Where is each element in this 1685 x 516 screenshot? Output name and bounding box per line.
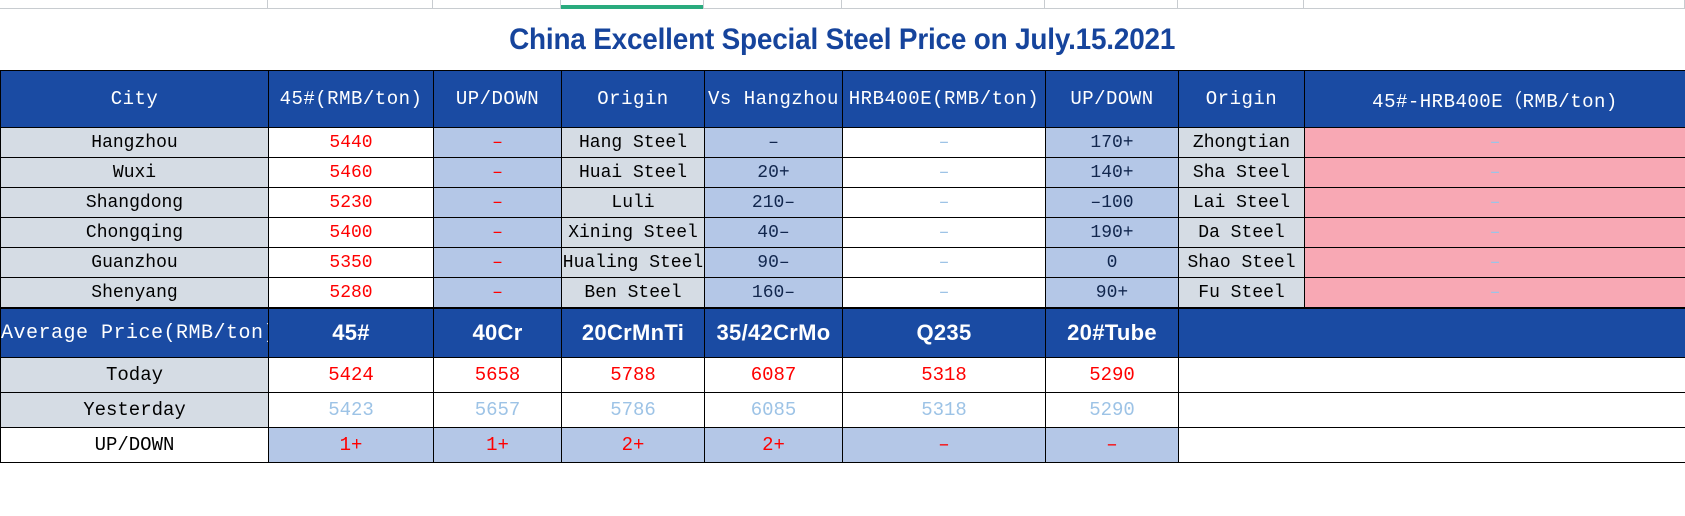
- cell-vs-hangzhou: –: [705, 128, 843, 158]
- cell-origin-hrb: Shao Steel: [1179, 248, 1305, 278]
- sheet-column-e[interactable]: [704, 0, 842, 8]
- cell-updown-45: –: [434, 158, 562, 188]
- cell-difference: –: [1305, 158, 1685, 188]
- yesterday-20crmnti: 5786: [562, 393, 705, 428]
- cell-updown-hrb: 140+: [1046, 158, 1179, 188]
- page-title: China Excellent Special Steel Price on J…: [509, 23, 1175, 57]
- cell-hrb400e: –: [843, 128, 1046, 158]
- screenshot-root: China Excellent Special Steel Price on J…: [0, 0, 1685, 516]
- table-row[interactable]: Guanzhou 5350 – Hualing Steel 90– – 0 Sh…: [1, 248, 1685, 278]
- cell-origin-hrb: Lai Steel: [1179, 188, 1305, 218]
- cell-updown-45: –: [434, 188, 562, 218]
- updown-20crmnti: 2+: [562, 428, 705, 463]
- cell-city: Guanzhou: [1, 248, 269, 278]
- report-title-bar: China Excellent Special Steel Price on J…: [0, 9, 1685, 70]
- header-vs-hangzhou: Vs Hangzhou: [705, 71, 843, 128]
- cell-updown-hrb: 170+: [1046, 128, 1179, 158]
- cell-city: Chongqing: [1, 218, 269, 248]
- spreadsheet-column-strip[interactable]: [0, 0, 1685, 9]
- table-row[interactable]: Hangzhou 5440 – Hang Steel – – 170+ Zhon…: [1, 128, 1685, 158]
- average-header-spacer: [1179, 309, 1685, 358]
- cell-origin-hrb: Da Steel: [1179, 218, 1305, 248]
- sheet-column-a[interactable]: [0, 0, 268, 8]
- cell-difference: –: [1305, 278, 1685, 308]
- header-price-45: 45#(RMB/ton): [269, 71, 434, 128]
- sheet-column-c[interactable]: [433, 0, 561, 8]
- average-row-yesterday[interactable]: Yesterday 5423 5657 5786 6085 5318 5290: [1, 393, 1685, 428]
- updown-35-42crmo: 2+: [705, 428, 843, 463]
- yesterday-20tube: 5290: [1046, 393, 1179, 428]
- yesterday-35-42crmo: 6085: [705, 393, 843, 428]
- cell-city: Shenyang: [1, 278, 269, 308]
- cell-origin-hrb: Zhongtian: [1179, 128, 1305, 158]
- header-hrb400e: HRB400E(RMB/ton): [843, 71, 1046, 128]
- cell-updown-45: –: [434, 128, 562, 158]
- cell-vs-hangzhou: 210–: [705, 188, 843, 218]
- updown-40cr: 1+: [434, 428, 562, 463]
- cell-updown-45: –: [434, 218, 562, 248]
- cell-city: Wuxi: [1, 158, 269, 188]
- average-row-today[interactable]: Today 5424 5658 5788 6087 5318 5290: [1, 358, 1685, 393]
- today-spacer: [1179, 358, 1685, 393]
- sheet-column-i[interactable]: [1304, 0, 1685, 8]
- cell-origin-45: Ben Steel: [562, 278, 705, 308]
- cell-origin-45: Huai Steel: [562, 158, 705, 188]
- cell-difference: –: [1305, 188, 1685, 218]
- cell-origin-hrb: Fu Steel: [1179, 278, 1305, 308]
- sheet-column-h[interactable]: [1178, 0, 1304, 8]
- header-origin-hrb: Origin: [1179, 71, 1305, 128]
- grade-40cr: 40Cr: [434, 309, 562, 358]
- yesterday-q235: 5318: [843, 393, 1046, 428]
- cell-origin-45: Luli: [562, 188, 705, 218]
- cell-price-45: 5350: [269, 248, 434, 278]
- table-row[interactable]: Shangdong 5230 – Luli 210– – –100 Lai St…: [1, 188, 1685, 218]
- grade-20crmnti: 20CrMnTi: [562, 309, 705, 358]
- today-20crmnti: 5788: [562, 358, 705, 393]
- yesterday-40cr: 5657: [434, 393, 562, 428]
- today-20tube: 5290: [1046, 358, 1179, 393]
- cell-hrb400e: –: [843, 278, 1046, 308]
- cell-price-45: 5230: [269, 188, 434, 218]
- updown-45: 1+: [269, 428, 434, 463]
- cell-price-45: 5400: [269, 218, 434, 248]
- table-row[interactable]: Chongqing 5400 – Xining Steel 40– – 190+…: [1, 218, 1685, 248]
- cell-hrb400e: –: [843, 158, 1046, 188]
- cell-updown-hrb: 90+: [1046, 278, 1179, 308]
- cell-vs-hangzhou: 40–: [705, 218, 843, 248]
- cell-hrb400e: –: [843, 248, 1046, 278]
- cell-difference: –: [1305, 248, 1685, 278]
- today-q235: 5318: [843, 358, 1046, 393]
- cell-vs-hangzhou: 160–: [705, 278, 843, 308]
- cell-updown-hrb: 190+: [1046, 218, 1179, 248]
- yesterday-45: 5423: [269, 393, 434, 428]
- cell-price-45: 5280: [269, 278, 434, 308]
- average-price-table: Average Price(RMB/ton) 45# 40Cr 20CrMnTi…: [0, 308, 1685, 463]
- cell-city: Hangzhou: [1, 128, 269, 158]
- cell-updown-45: –: [434, 278, 562, 308]
- header-origin-45: Origin: [562, 71, 705, 128]
- sheet-column-d-selected[interactable]: [561, 0, 704, 8]
- header-city: City: [1, 71, 269, 128]
- yesterday-spacer: [1179, 393, 1685, 428]
- updown-20tube: –: [1046, 428, 1179, 463]
- cell-difference: –: [1305, 128, 1685, 158]
- cell-origin-hrb: Sha Steel: [1179, 158, 1305, 188]
- cell-price-45: 5440: [269, 128, 434, 158]
- updown-spacer: [1179, 428, 1685, 463]
- cell-hrb400e: –: [843, 188, 1046, 218]
- cell-vs-hangzhou: 90–: [705, 248, 843, 278]
- grade-q235: Q235: [843, 309, 1046, 358]
- today-35-42crmo: 6087: [705, 358, 843, 393]
- sheet-column-f[interactable]: [842, 0, 1045, 8]
- steel-price-table: City 45#(RMB/ton) UP/DOWN Origin Vs Hang…: [0, 70, 1685, 308]
- cell-vs-hangzhou: 20+: [705, 158, 843, 188]
- cell-updown-45: –: [434, 248, 562, 278]
- cell-origin-45: Hang Steel: [562, 128, 705, 158]
- cell-price-45: 5460: [269, 158, 434, 188]
- row-label-yesterday: Yesterday: [1, 393, 269, 428]
- grade-45: 45#: [269, 309, 434, 358]
- cell-origin-45: Xining Steel: [562, 218, 705, 248]
- row-label-updown: UP/DOWN: [1, 428, 269, 463]
- today-45: 5424: [269, 358, 434, 393]
- updown-q235: –: [843, 428, 1046, 463]
- sheet-column-b[interactable]: [268, 0, 433, 8]
- today-40cr: 5658: [434, 358, 562, 393]
- cell-city: Shangdong: [1, 188, 269, 218]
- cell-updown-hrb: 0: [1046, 248, 1179, 278]
- header-updown-hrb: UP/DOWN: [1046, 71, 1179, 128]
- row-label-today: Today: [1, 358, 269, 393]
- sheet-column-g[interactable]: [1045, 0, 1178, 8]
- cell-origin-45: Hualing Steel: [562, 248, 705, 278]
- average-price-label: Average Price(RMB/ton): [1, 309, 269, 358]
- grade-35-42crmo: 35/42CrMo: [705, 309, 843, 358]
- table-row[interactable]: Wuxi 5460 – Huai Steel 20+ – 140+ Sha St…: [1, 158, 1685, 188]
- cell-hrb400e: –: [843, 218, 1046, 248]
- table-row[interactable]: Shenyang 5280 – Ben Steel 160– – 90+ Fu …: [1, 278, 1685, 308]
- cell-difference: –: [1305, 218, 1685, 248]
- grade-20tube: 20#Tube: [1046, 309, 1179, 358]
- header-updown-45: UP/DOWN: [434, 71, 562, 128]
- cell-updown-hrb: –100: [1046, 188, 1179, 218]
- header-difference: 45#-HRB400E（RMB/ton): [1305, 71, 1685, 128]
- average-row-updown[interactable]: UP/DOWN 1+ 1+ 2+ 2+ – –: [1, 428, 1685, 463]
- average-header-row: Average Price(RMB/ton) 45# 40Cr 20CrMnTi…: [1, 309, 1685, 358]
- table-header-row: City 45#(RMB/ton) UP/DOWN Origin Vs Hang…: [1, 71, 1685, 128]
